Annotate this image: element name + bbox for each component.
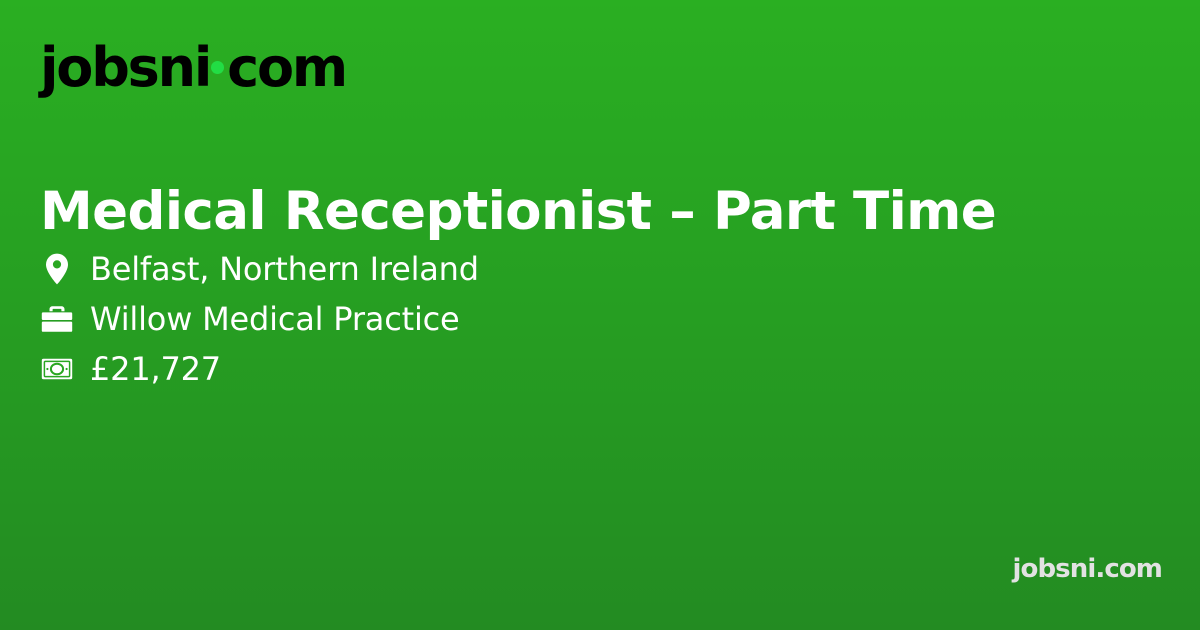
banknote-icon (40, 352, 74, 386)
job-meta-company: Willow Medical Practice (40, 294, 940, 344)
location-pin-icon (40, 252, 74, 286)
page-title: Medical Receptionist – Part Time (40, 182, 1130, 241)
site-logo[interactable]: jobsni com (40, 36, 346, 100)
job-location-label: Belfast, Northern Ireland (90, 253, 479, 285)
job-company-label: Willow Medical Practice (90, 303, 460, 335)
briefcase-icon (40, 302, 74, 336)
logo-text-secondary: com (227, 41, 346, 95)
green-dot-icon (211, 61, 224, 74)
job-meta-list: Belfast, Northern Ireland Willow Medical… (40, 244, 940, 394)
job-share-card: jobsni com Medical Receptionist – Part T… (0, 0, 1200, 630)
job-meta-location: Belfast, Northern Ireland (40, 244, 940, 294)
job-meta-salary: £21,727 (40, 344, 940, 394)
job-salary-label: £21,727 (90, 353, 221, 385)
site-watermark: jobsni.com (1012, 556, 1162, 582)
logo-text-primary: jobsni (40, 41, 210, 95)
